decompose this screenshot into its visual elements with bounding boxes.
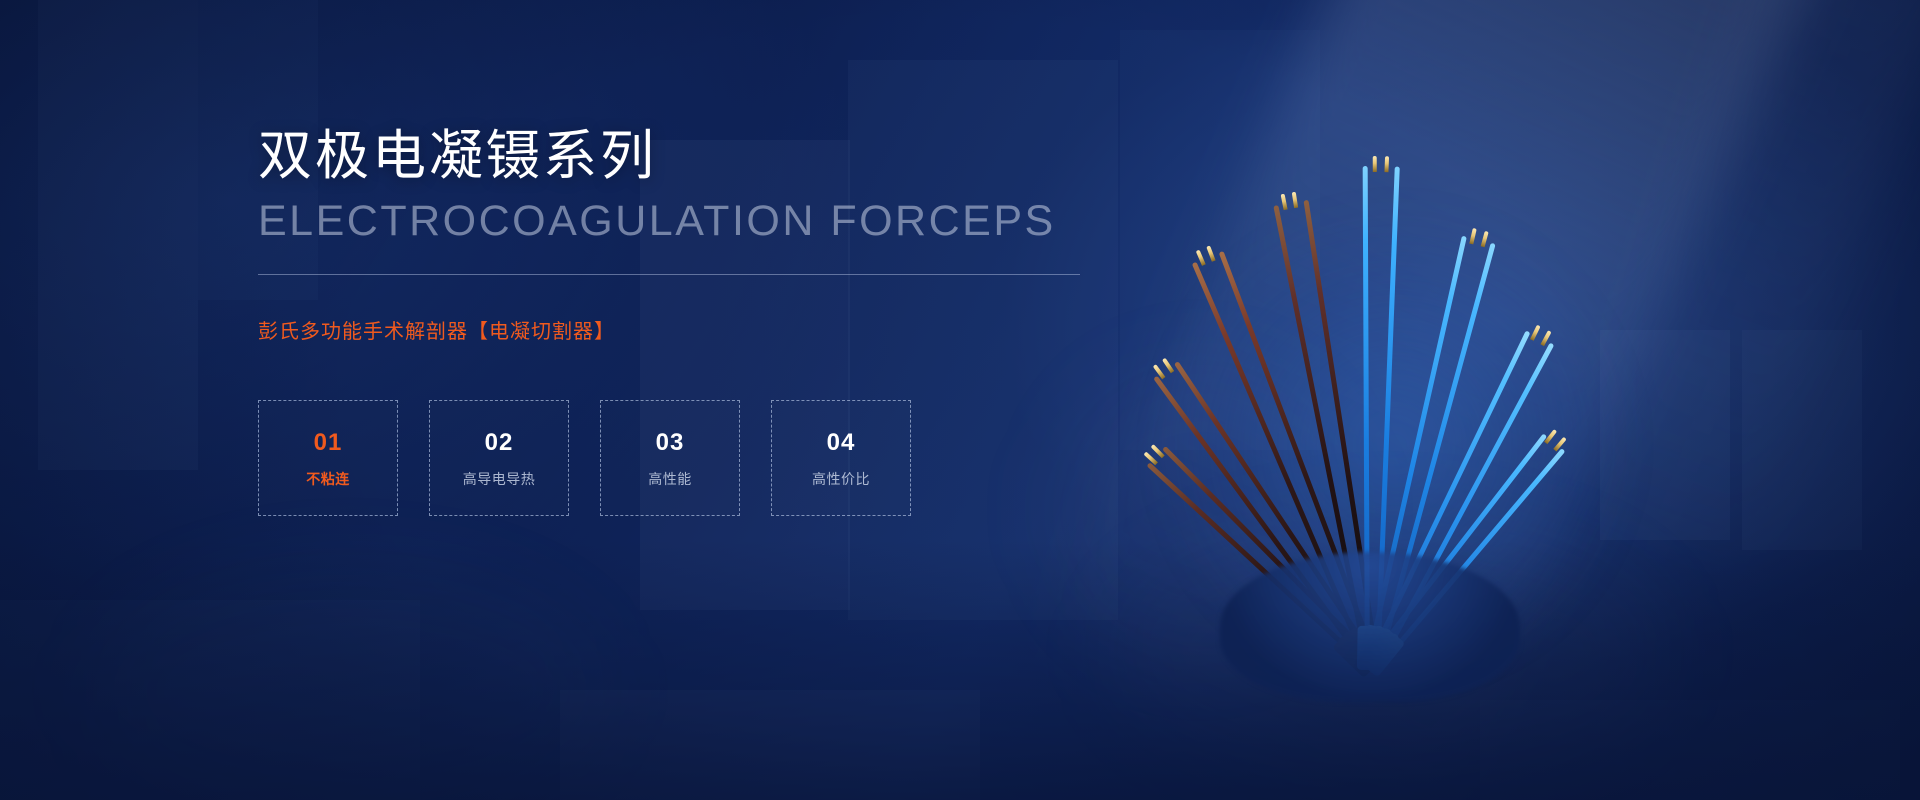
product-hero-banner: 双极电凝镊系列 ELECTROCOAGULATION FORCEPS 彭氏多功能… (0, 0, 1920, 800)
feature-label: 不粘连 (306, 472, 350, 486)
feature-label: 高导电导热 (463, 472, 536, 486)
feature-label: 高性能 (648, 472, 692, 486)
feature-card-03[interactable]: 03高性能 (600, 400, 740, 516)
divider (258, 274, 1080, 275)
forceps-gold-tip (1196, 249, 1206, 265)
feature-number: 04 (827, 431, 856, 455)
forceps-gold-tip (1480, 231, 1488, 247)
forceps-gold-tip (1373, 156, 1377, 172)
forceps-gold-tip (1162, 358, 1174, 374)
feature-label: 高性价比 (812, 472, 870, 486)
forceps-gold-tip (1207, 245, 1216, 261)
product-image (1090, 60, 1650, 720)
forceps-gold-tip (1384, 156, 1389, 172)
forceps-gold-tip (1281, 194, 1288, 210)
page-title: 双极电凝镊系列 (258, 128, 1158, 185)
feature-card-01[interactable]: 01不粘连 (258, 400, 398, 516)
forceps-gold-tip (1469, 228, 1476, 244)
feature-card-02[interactable]: 02高导电导热 (429, 400, 569, 516)
forceps-gold-tip (1292, 192, 1298, 208)
feature-card-04[interactable]: 04高性价比 (771, 400, 911, 516)
feature-number: 02 (485, 431, 514, 455)
product-subtitle: 彭氏多功能手术解剖器【电凝切割器】 (258, 315, 1158, 344)
feature-list: 01不粘连02高导电导热03高性能04高性价比 (258, 400, 1158, 516)
forceps-base (1220, 552, 1520, 702)
banner-content: 双极电凝镊系列 ELECTROCOAGULATION FORCEPS 彭氏多功能… (258, 128, 1158, 516)
page-subtitle-en: ELECTROCOAGULATION FORCEPS (258, 199, 1158, 244)
feature-number: 01 (314, 431, 343, 455)
forceps-gold-tip (1530, 325, 1541, 341)
feature-number: 03 (656, 431, 685, 455)
